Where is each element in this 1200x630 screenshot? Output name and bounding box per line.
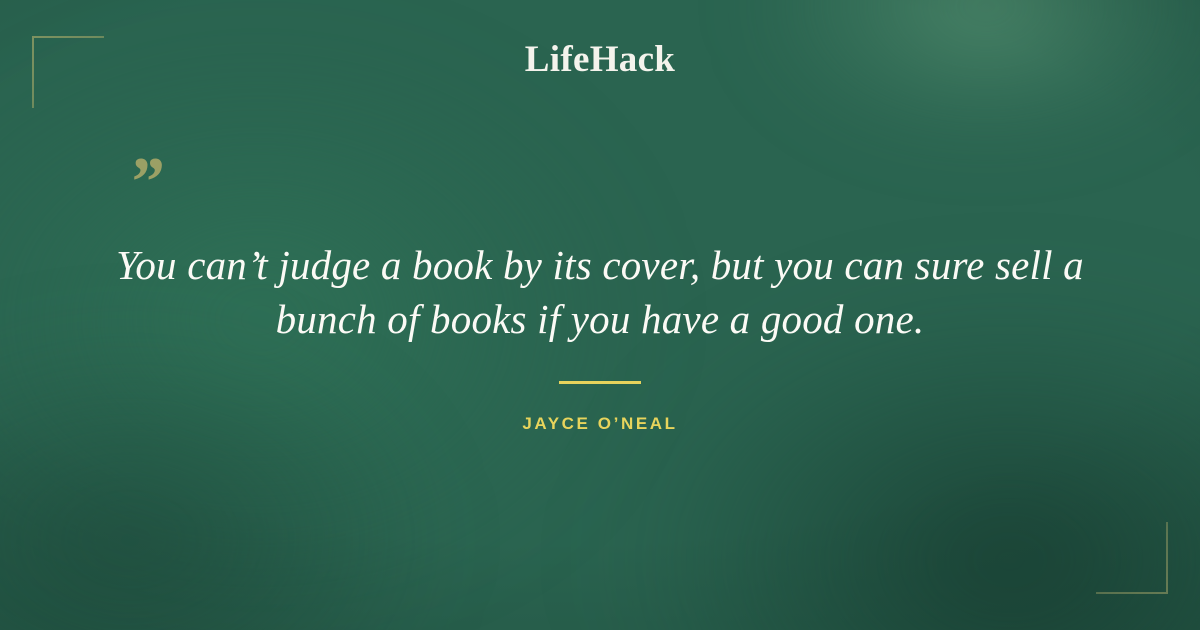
gold-divider bbox=[559, 381, 641, 384]
quote-line-2: bunch of books if you have a good one. bbox=[276, 296, 925, 342]
quotation-mark-icon: ” bbox=[128, 148, 163, 218]
background-glow-bottom-left bbox=[0, 330, 440, 630]
quote-card: LifeHack ” You can’t judge a book by its… bbox=[0, 0, 1200, 630]
quote-text: You can’t judge a book by its cover, but… bbox=[100, 238, 1100, 346]
background-glow-bottom-right bbox=[620, 300, 1200, 630]
quote-line-1: You can’t judge a book by its cover, but… bbox=[116, 242, 1084, 288]
brand-logo: LifeHack bbox=[0, 38, 1200, 81]
quote-author: JAYCE O’NEAL bbox=[0, 414, 1200, 434]
quote-block: You can’t judge a book by its cover, but… bbox=[100, 238, 1100, 346]
